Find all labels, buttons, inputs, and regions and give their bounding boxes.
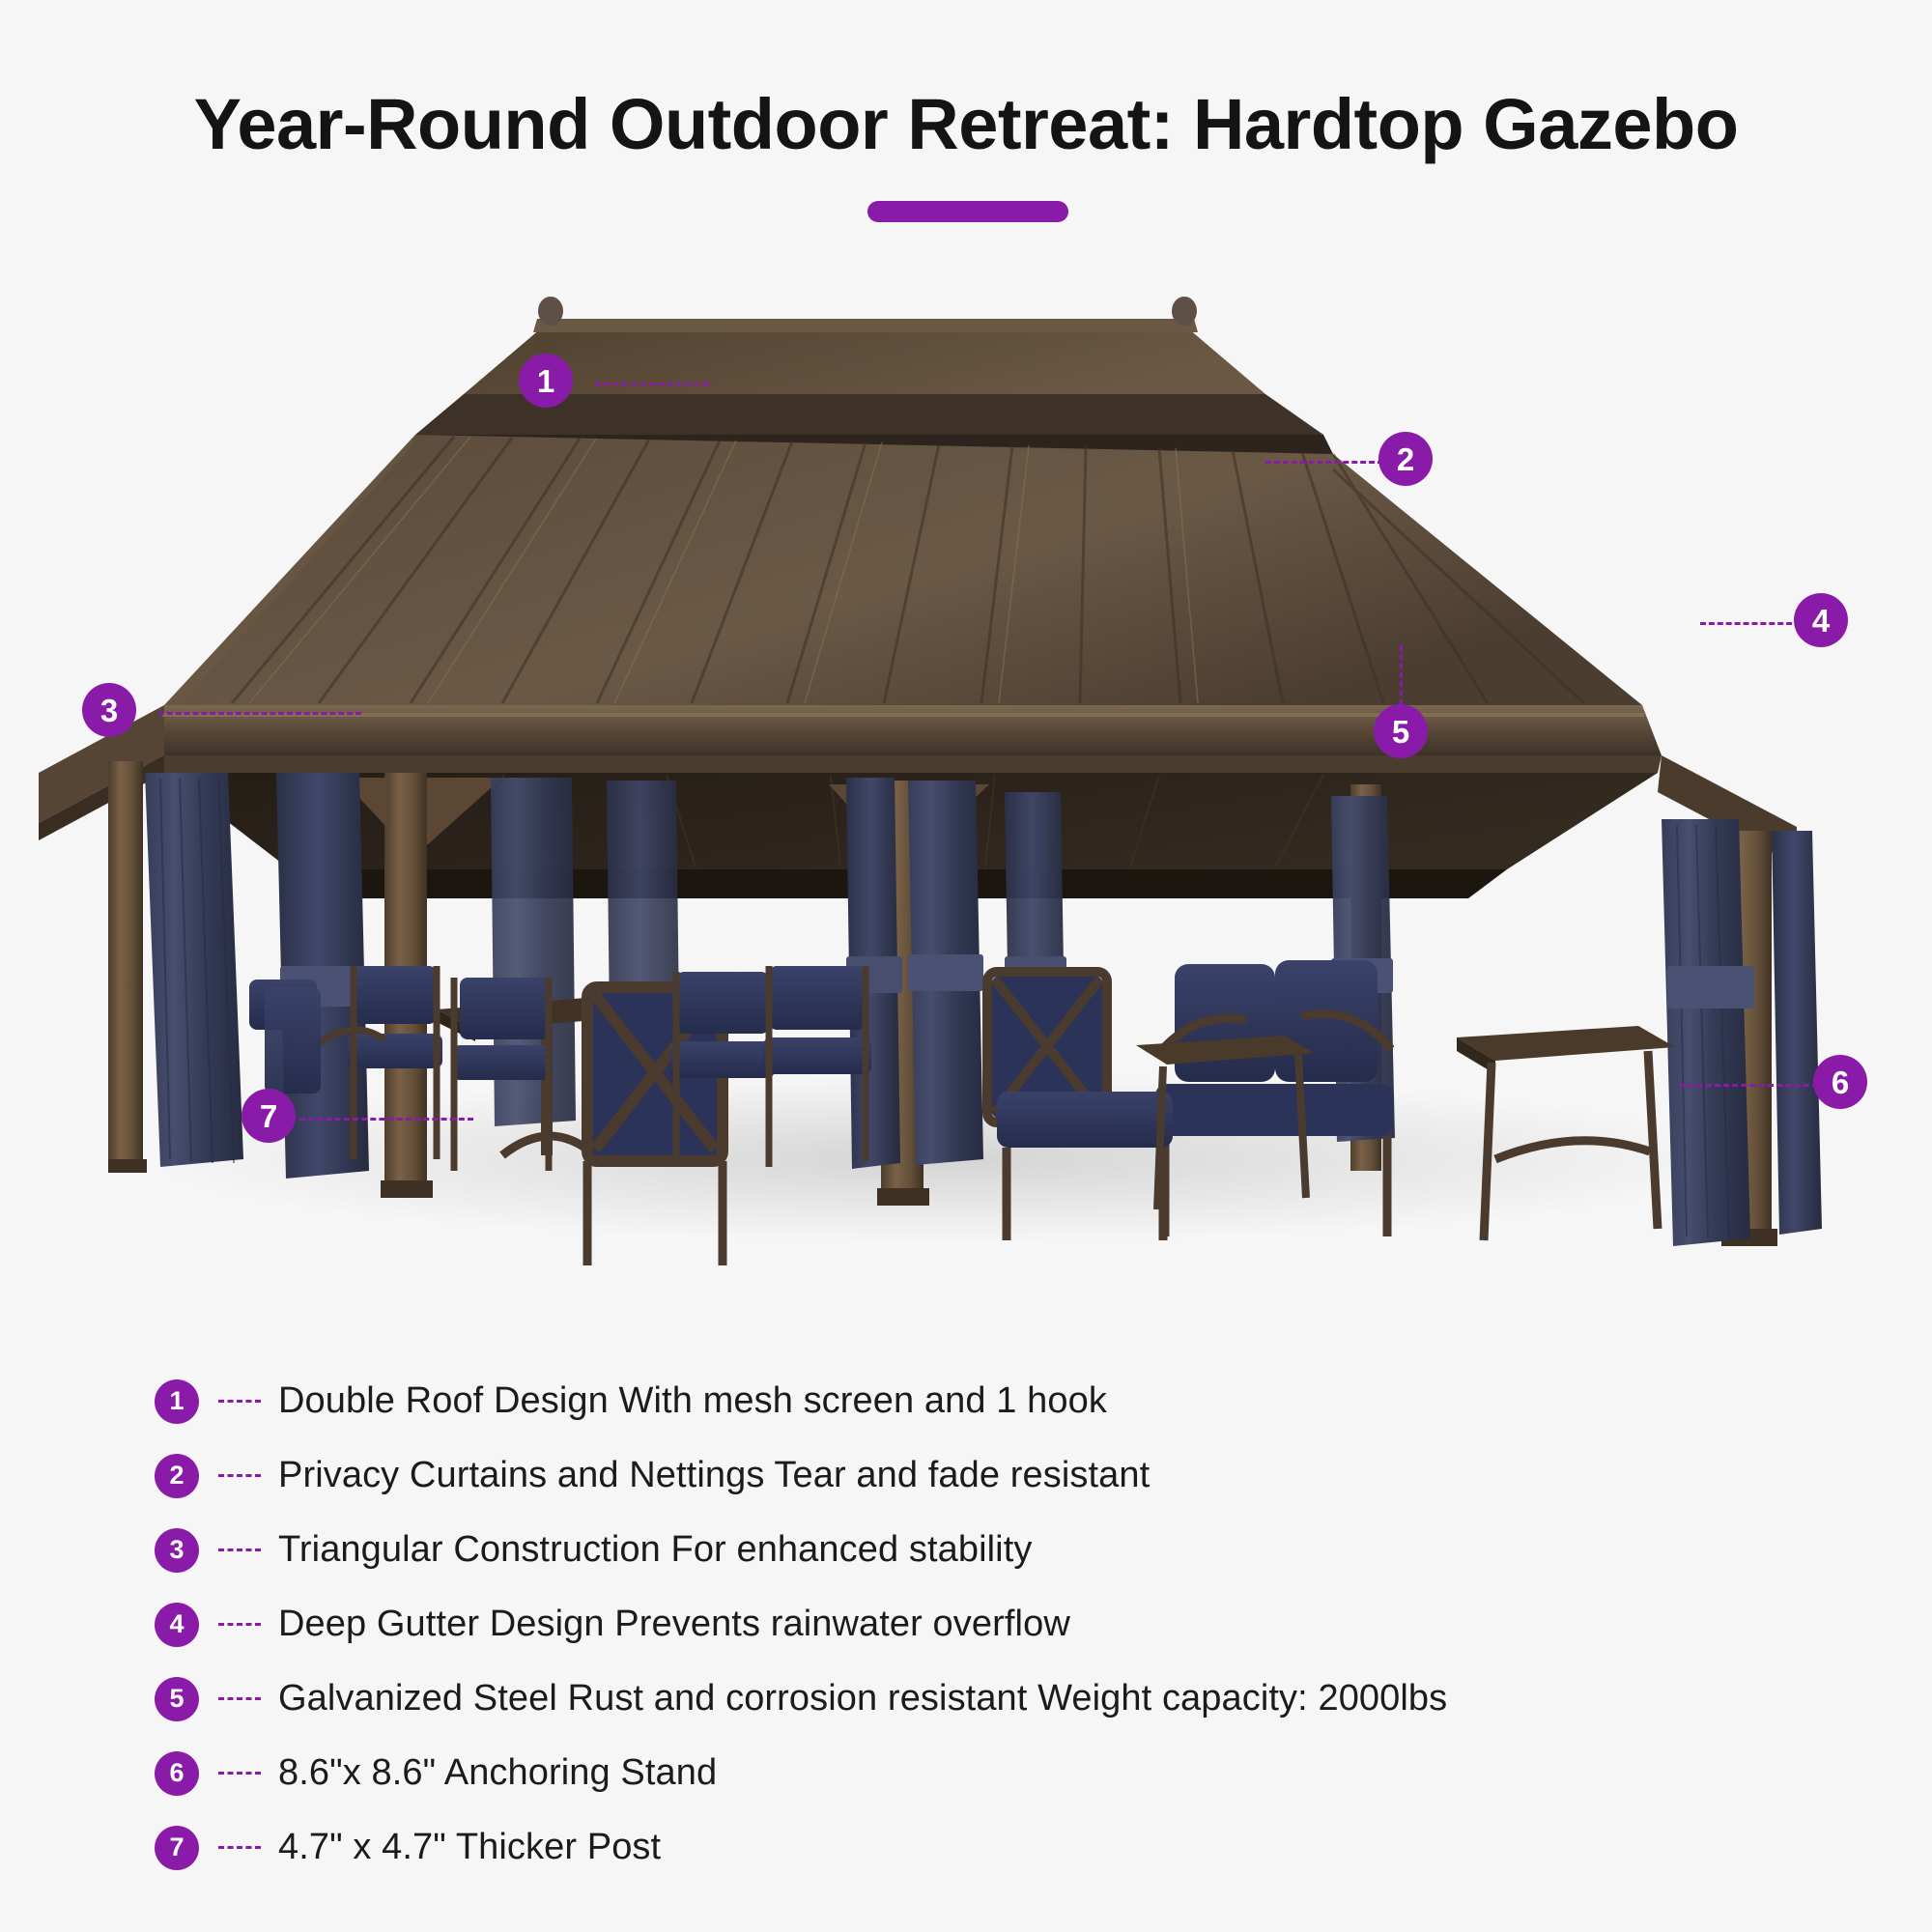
feature-dash-1 [218,1400,261,1403]
callout-marker-6[interactable]: 6 [1813,1055,1867,1109]
callout-marker-7[interactable]: 7 [241,1089,296,1143]
callout-marker-5[interactable]: 5 [1374,704,1428,758]
callout-marker-1[interactable]: 1 [519,354,573,408]
feature-text-1: Double Roof Design With mesh screen and … [278,1380,1797,1422]
feature-row-4: 4 Deep Gutter Design Prevents rainwater … [155,1587,1797,1662]
feature-text-5: Galvanized Steel Rust and corrosion resi… [278,1678,1797,1719]
feature-text-7: 4.7" x 4.7" Thicker Post [278,1827,1797,1868]
callout-marker-2[interactable]: 2 [1378,432,1433,486]
post-front-left [108,761,147,1173]
feature-dash-6 [218,1772,261,1775]
feature-badge-1: 1 [155,1379,199,1424]
leader-line-5 [1400,645,1403,705]
curtain-center-right [908,781,983,1165]
feature-badge-2: 2 [155,1454,199,1498]
feature-badge-7: 7 [155,1826,199,1870]
feature-badge-6: 6 [155,1751,199,1796]
feature-text-3: Triangular Construction For enhanced sta… [278,1529,1797,1571]
curtain-left-1 [145,773,243,1167]
feature-badge-4: 4 [155,1603,199,1647]
title-accent-bar [867,201,1068,222]
infographic-page: Year-Round Outdoor Retreat: Hardtop Gaze… [0,0,1932,1932]
feature-row-7: 7 4.7" x 4.7" Thicker Post [155,1810,1797,1885]
chair-far-left [265,987,321,1094]
feature-list: 1 Double Roof Design With mesh screen an… [155,1364,1797,1885]
finial-right [1172,297,1197,326]
feature-text-4: Deep Gutter Design Prevents rainwater ov… [278,1604,1797,1645]
leader-line-4 [1700,622,1801,625]
curtain-far-right-2 [1772,831,1822,1235]
feature-dash-2 [218,1474,261,1477]
feature-badge-3: 3 [155,1528,199,1573]
callout-marker-3[interactable]: 3 [82,683,136,737]
feature-text-6: 8.6"x 8.6" Anchoring Stand [278,1752,1797,1794]
curtain-far-right [1662,819,1754,1246]
anchoring-stand-left [381,1180,433,1198]
gazebo-product-image [0,290,1932,1352]
leader-line-6 [1679,1084,1818,1087]
finial-left [538,297,563,326]
feature-row-3: 3 Triangular Construction For enhanced s… [155,1513,1797,1587]
leader-line-1 [595,383,709,385]
feature-row-1: 1 Double Roof Design With mesh screen an… [155,1364,1797,1438]
feature-row-2: 2 Privacy Curtains and Nettings Tear and… [155,1438,1797,1513]
page-title: Year-Round Outdoor Retreat: Hardtop Gaze… [0,83,1932,165]
feature-dash-4 [218,1623,261,1626]
feature-row-5: 5 Galvanized Steel Rust and corrosion re… [155,1662,1797,1736]
feature-dash-7 [218,1846,261,1849]
feature-badge-5: 5 [155,1677,199,1721]
curtain-tieback-right [1667,966,1754,1009]
feature-dash-5 [218,1697,261,1700]
leader-line-7 [299,1118,473,1121]
callout-marker-4[interactable]: 4 [1794,593,1848,647]
feature-dash-3 [218,1548,261,1551]
leader-line-2 [1265,461,1383,464]
leader-line-3 [158,712,361,715]
feature-text-2: Privacy Curtains and Nettings Tear and f… [278,1455,1797,1496]
feature-row-6: 6 8.6"x 8.6" Anchoring Stand [155,1736,1797,1810]
